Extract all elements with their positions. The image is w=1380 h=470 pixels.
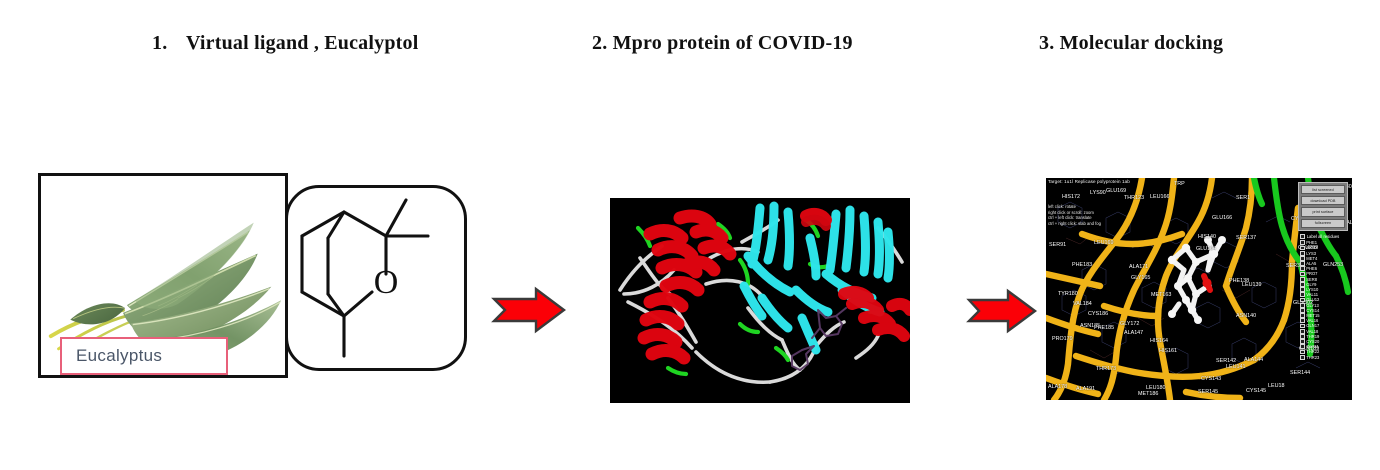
scene-residue-label: LEU139 (1242, 282, 1261, 288)
protein-cartoon-image (610, 198, 910, 403)
residue-list-panel[interactable]: Label all residues PHE1ARG2LYS3MET4ALA5P… (1300, 234, 1350, 360)
scene-residue-label: GLU169 (1106, 188, 1126, 194)
scene-residue-label: LYS90 (1090, 190, 1106, 196)
label-all-residues-checkbox[interactable] (1300, 234, 1305, 239)
scene-residue-label: HIS172 (1062, 194, 1080, 200)
scene-residue-label: PHE183 (1072, 262, 1092, 268)
heading-step-1-number: 1. (152, 32, 186, 55)
right-arrow-icon (491, 286, 567, 334)
scene-residue-label: PHE185 (1094, 325, 1114, 331)
scene-residue-label: ALA191 (1076, 386, 1095, 392)
scene-residue-label: CYS145 (1246, 388, 1266, 394)
residue-checkbox[interactable] (1300, 261, 1305, 266)
residue-checkbox[interactable] (1300, 329, 1305, 334)
molecular-docking-viewer[interactable]: Target: 1u1l Replicase polyprotein 1ab l… (1046, 178, 1352, 400)
viewer-tool-panel: list screened download PDB print surface… (1298, 182, 1348, 231)
scene-residue-label: THR173 (1096, 366, 1116, 372)
eucalyptus-caption-text: Eucalyptus (62, 346, 162, 366)
scene-residue-label: TYR180 (1058, 291, 1078, 297)
residue-checkbox[interactable] (1300, 240, 1305, 245)
oxygen-atom-label: O (374, 264, 399, 301)
heading-step-3: 3. Molecular docking (1039, 32, 1223, 55)
list-screened-button[interactable]: list screened (1301, 185, 1345, 194)
scene-residue-label: SER91 (1049, 242, 1066, 248)
residue-checkbox[interactable] (1300, 287, 1305, 292)
scene-residue-label: GLY172 (1120, 321, 1139, 327)
scene-residue-label: LEU18 (1268, 383, 1284, 389)
residue-items: PHE1ARG2LYS3MET4ALA5PHE6PRO7SER8GLY9LYS1… (1300, 240, 1350, 360)
residue-checkbox[interactable] (1300, 308, 1305, 313)
scene-residue-label: ALA147 (1124, 330, 1143, 336)
residue-checkbox[interactable] (1300, 344, 1305, 349)
eucalyptol-structure-box: O (285, 185, 467, 371)
residue-checkbox[interactable] (1300, 339, 1305, 344)
residue-checkbox[interactable] (1300, 282, 1305, 287)
hint-slab: ctrl + right click: slab and fog (1048, 221, 1101, 227)
residue-checkbox[interactable] (1300, 298, 1305, 303)
residue-list-item[interactable]: THR23 (1300, 355, 1350, 360)
scene-residue-label: ALA178 (1048, 384, 1067, 390)
scene-residue-label: ASN140 (1236, 313, 1256, 319)
residue-checkbox[interactable] (1300, 318, 1305, 323)
scene-residue-label: SER1 (1236, 195, 1250, 201)
right-arrow-icon-2 (966, 288, 1038, 334)
fullscreen-button[interactable]: fullscreen (1301, 219, 1345, 228)
target-label: Target: 1u1l Replicase polyprotein 1ab (1048, 179, 1130, 184)
residue-label: THR23 (1306, 355, 1319, 360)
residue-checkbox[interactable] (1300, 266, 1305, 271)
residue-checkbox[interactable] (1300, 350, 1305, 355)
scene-residue-label: VAL184 (1073, 301, 1092, 307)
eucalyptus-caption-box: Eucalyptus (60, 337, 228, 375)
scene-residue-label: MET186 (1138, 391, 1158, 397)
print-surface-button[interactable]: print surface (1301, 207, 1345, 216)
residue-checkbox[interactable] (1300, 246, 1305, 251)
scene-residue-label: HIS161 (1159, 348, 1177, 354)
residue-checkbox[interactable] (1300, 313, 1305, 318)
download-pdb-button[interactable]: download PDB (1301, 196, 1345, 205)
residue-checkbox[interactable] (1300, 303, 1305, 308)
scene-residue-label: GLU166 (1212, 215, 1232, 221)
residue-checkbox[interactable] (1300, 324, 1305, 329)
scene-residue-label: PRO179 (1052, 336, 1073, 342)
scene-residue-label: HIS140 (1198, 234, 1216, 240)
label-all-residues-row[interactable]: Label all residues (1300, 234, 1350, 239)
scene-residue-label: ALA171 (1129, 264, 1148, 270)
heading-step-2: 2. Mpro protein of COVID-19 (592, 32, 853, 55)
scene-residue-label: CYS143 (1201, 376, 1221, 382)
residue-checkbox[interactable] (1300, 251, 1305, 256)
mpro-protein-render (610, 198, 910, 403)
scene-residue-label: SER144 (1290, 370, 1310, 376)
residue-checkbox[interactable] (1300, 292, 1305, 297)
label-all-residues-text: Label all residues (1307, 234, 1340, 239)
heading-step-1: 1.Virtual ligand , Eucalyptol (152, 32, 418, 55)
scene-residue-label: LEU169 (1094, 240, 1113, 246)
scene-residue-label: GLU164 (1196, 246, 1216, 252)
residue-checkbox[interactable] (1300, 355, 1305, 360)
scene-residue-label: LEU141 (1226, 364, 1245, 370)
scene-residue-label: SER145 (1198, 389, 1218, 395)
scene-residue-label: HIS164 (1150, 338, 1168, 344)
scene-residue-label: GLY165 (1131, 275, 1150, 281)
scene-residue-label: LEU166 (1150, 194, 1169, 200)
eucalyptol-skeletal-structure: O (288, 188, 464, 368)
arrow-1 (491, 286, 567, 339)
arrow-2 (966, 288, 1038, 339)
scene-residue-label: ALA144 (1244, 357, 1263, 363)
residue-checkbox[interactable] (1300, 277, 1305, 282)
scene-residue-label: TRP (1174, 181, 1185, 187)
residue-checkbox[interactable] (1300, 256, 1305, 261)
figure-stage: 1.Virtual ligand , Eucalyptol 2. Mpro pr… (0, 0, 1380, 470)
scene-residue-label: THR123 (1124, 195, 1144, 201)
scene-residue-label: SER137 (1236, 235, 1256, 241)
scene-residue-label: MET163 (1151, 292, 1171, 298)
virtual-ligand-panel: Eucalyptus (24, 165, 484, 395)
mouse-control-hints: left click: rotate right click or scroll… (1048, 204, 1101, 226)
residue-checkbox[interactable] (1300, 334, 1305, 339)
residue-checkbox[interactable] (1300, 272, 1305, 277)
heading-step-1-text: Virtual ligand , Eucalyptol (186, 32, 418, 54)
scene-residue-label: CYS186 (1088, 311, 1108, 317)
